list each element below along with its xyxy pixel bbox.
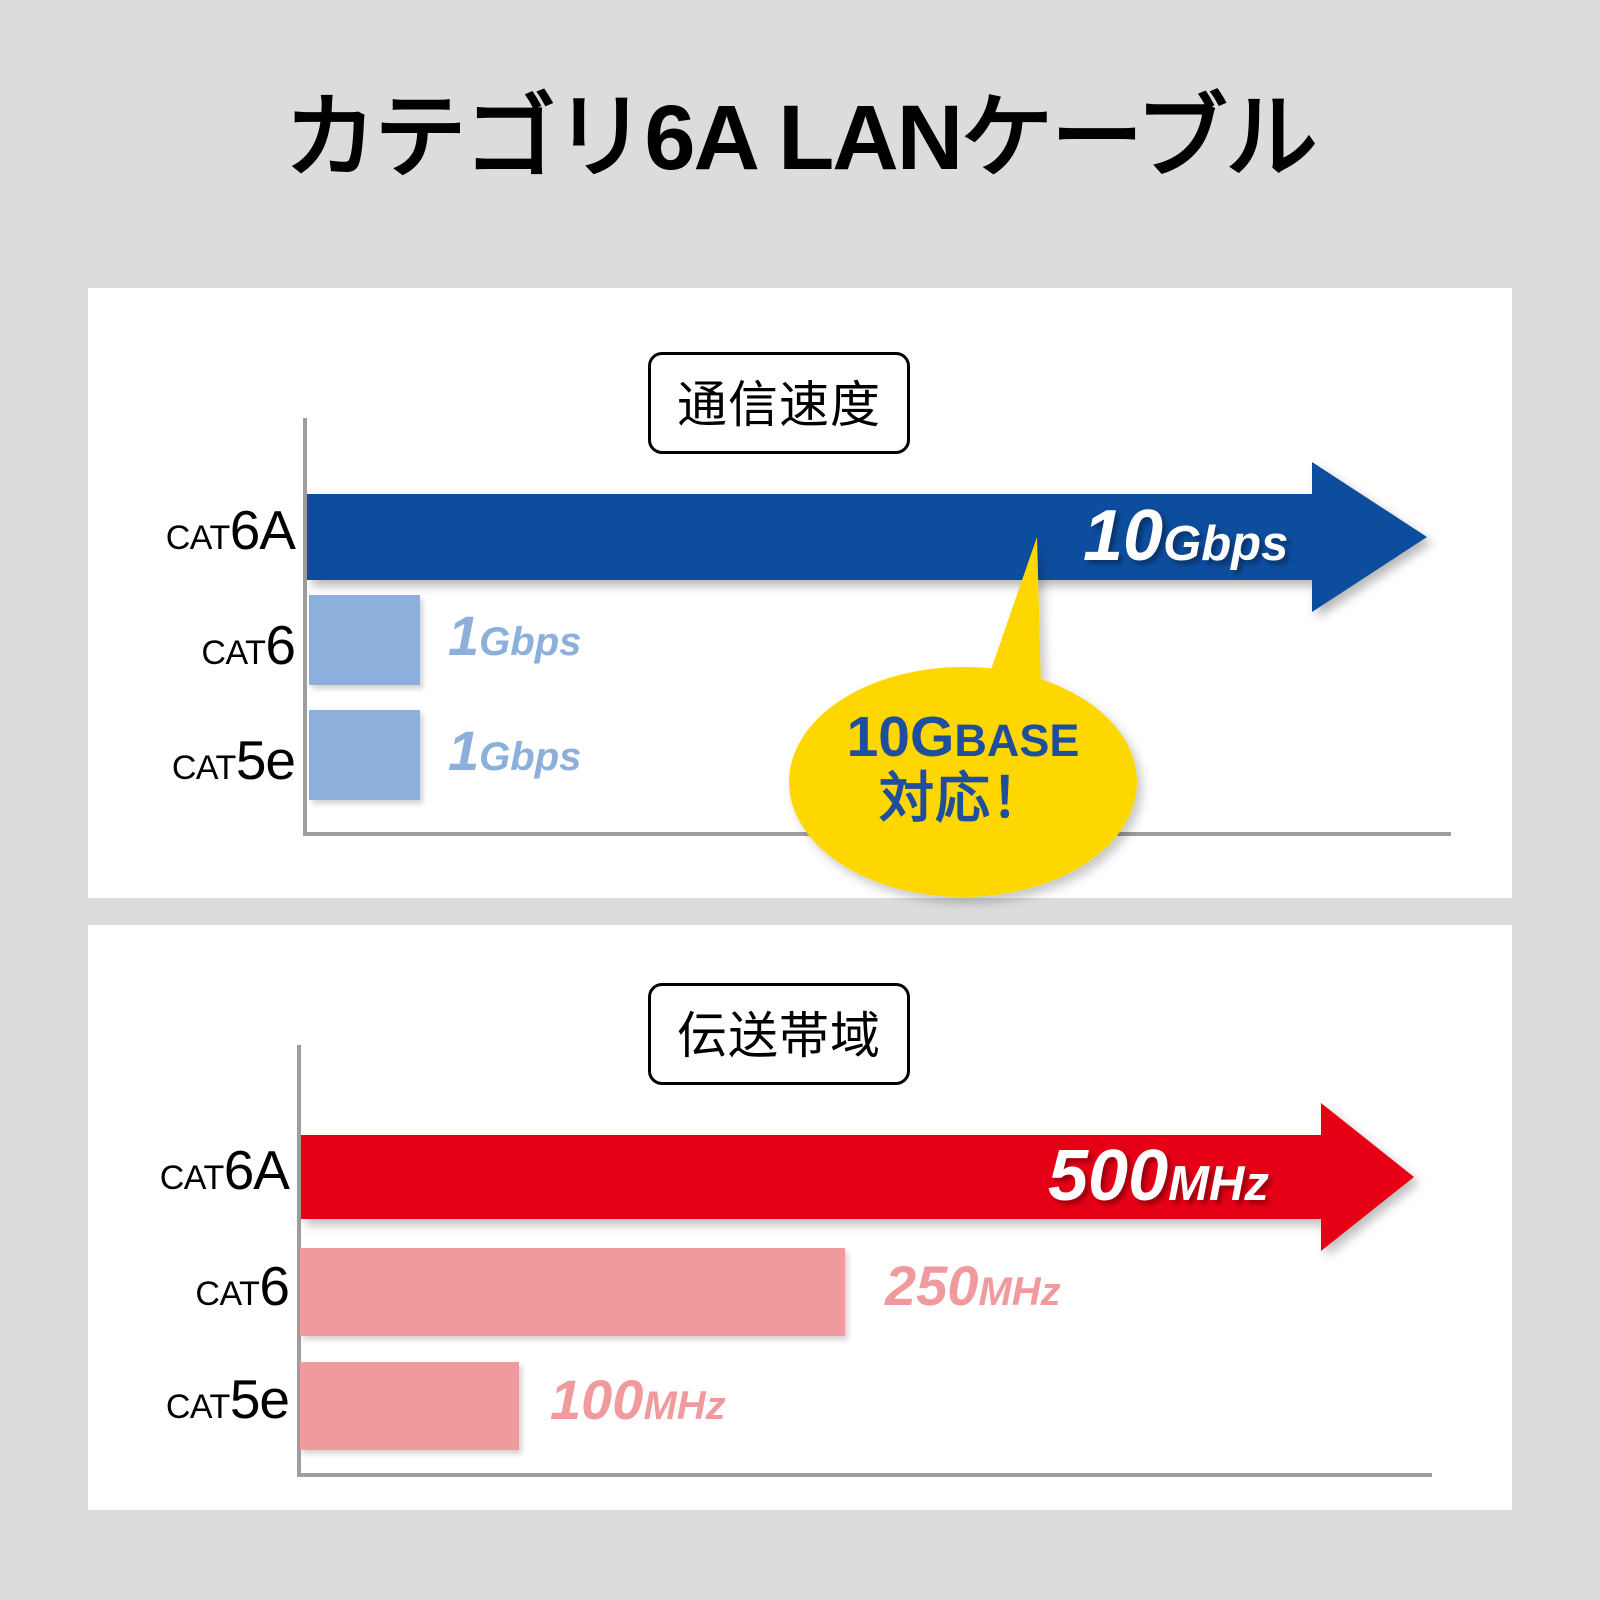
callout-text-block: 10GBASE 対応！	[789, 707, 1137, 828]
speed-value-cat5e-num: 1	[448, 719, 479, 782]
band-x-axis	[297, 1473, 1432, 1477]
speed-cat-suffix-1: 6	[265, 614, 295, 676]
speed-value-cat6-unit: Gbps	[479, 620, 581, 664]
band-value-cat6a: 500MHz	[1048, 1140, 1269, 1212]
band-cat-suffix-2: 5e	[230, 1368, 289, 1430]
band-value-cat5e: 100MHz	[550, 1372, 726, 1428]
band-cat-suffix-1: 6	[259, 1255, 289, 1317]
speed-cat-suffix-2: 5e	[236, 729, 295, 791]
band-cat-prefix-1: CAT	[195, 1275, 259, 1313]
band-category-label-cat6: CAT6	[94, 1259, 289, 1314]
speed-value-cat6: 1Gbps	[448, 608, 581, 664]
speed-category-label-cat5e: CAT5e	[100, 733, 295, 788]
speed-value-cat6a-unit: Gbps	[1163, 517, 1288, 571]
callout-line1-unit: BASE	[954, 715, 1079, 766]
band-value-cat5e-num: 100	[550, 1368, 643, 1431]
band-value-cat6a-num: 500	[1048, 1136, 1168, 1216]
callout-line1-num: 10G	[847, 705, 955, 769]
speed-value-cat6-num: 1	[448, 604, 479, 667]
speed-bar-cat5e	[309, 710, 420, 800]
speed-category-label-cat6: CAT6	[100, 618, 295, 673]
band-category-label-cat6a: CAT6A	[94, 1143, 289, 1198]
speed-cat-prefix-0: CAT	[166, 519, 230, 557]
callout-line2: 対応！	[789, 769, 1137, 828]
band-value-cat5e-unit: MHz	[643, 1384, 725, 1428]
badge-transmission-bandwidth: 伝送帯域	[648, 983, 910, 1085]
band-category-label-cat5e: CAT5e	[94, 1372, 289, 1427]
speed-category-label-cat6a: CAT6A	[100, 503, 295, 558]
speed-value-cat6a: 10Gbps	[1083, 500, 1288, 572]
speed-value-cat5e-unit: Gbps	[479, 735, 581, 779]
band-bar-cat5e	[300, 1362, 519, 1450]
speed-cat-prefix-1: CAT	[201, 634, 265, 672]
speed-value-cat6a-num: 10	[1083, 496, 1163, 576]
callout-line1: 10GBASE	[789, 707, 1137, 769]
band-cat-prefix-0: CAT	[160, 1159, 224, 1197]
badge-communication-speed: 通信速度	[648, 352, 910, 454]
page-title: カテゴリ6A LANケーブル	[0, 88, 1600, 189]
speed-cat-prefix-2: CAT	[172, 749, 236, 787]
band-cat-suffix-0: 6A	[224, 1139, 289, 1201]
callout-10gbase: 10GBASE 対応！	[789, 607, 1137, 897]
band-value-cat6: 250MHz	[885, 1258, 1061, 1314]
band-value-cat6-unit: MHz	[978, 1270, 1060, 1314]
speed-bar-cat6	[309, 595, 420, 685]
band-value-cat6a-unit: MHz	[1168, 1157, 1269, 1211]
band-value-cat6-num: 250	[885, 1254, 978, 1317]
band-cat-prefix-2: CAT	[166, 1388, 230, 1426]
band-bar-cat6	[300, 1248, 845, 1336]
speed-cat-suffix-0: 6A	[230, 499, 295, 561]
speed-value-cat5e: 1Gbps	[448, 723, 581, 779]
infographic-root: カテゴリ6A LANケーブル 通信速度 CAT6A CAT6 CAT5e 10G…	[0, 0, 1600, 1600]
